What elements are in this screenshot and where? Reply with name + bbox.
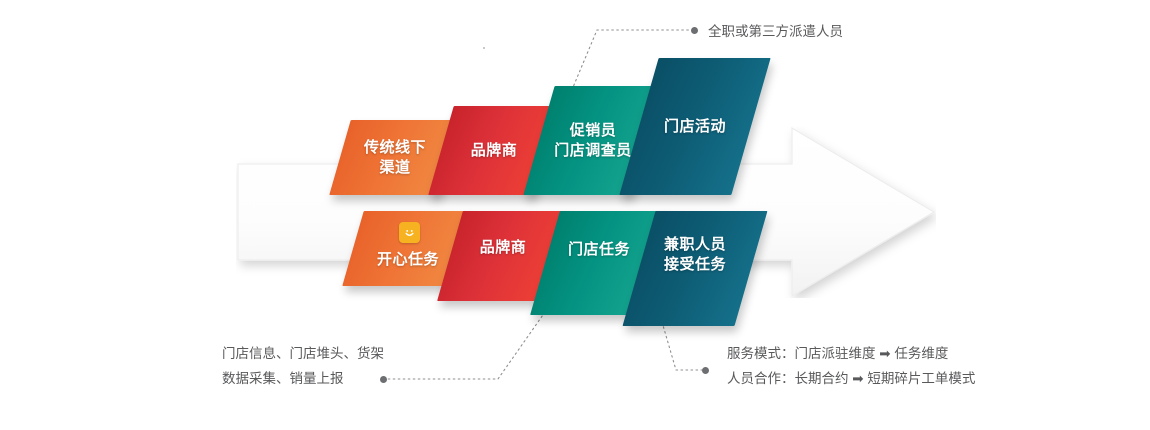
annotation-dot-staffing — [691, 27, 698, 34]
annotation-line: 全职或第三方派遣人员 — [708, 20, 843, 45]
annotation-dot-service-model — [702, 367, 709, 374]
diagram-canvas: 传统线下 渠道 品牌商 促销员 门店调查员 门店活动 — [0, 0, 1150, 430]
annotation-service-model: 服务模式：门店派驻维度 ➡ 任务维度 人员合作：长期合约 ➡ 短期碎片工单模式 — [727, 342, 975, 392]
chevron-parttime-accept-task[interactable]: 兼职人员 接受任务 — [639, 211, 751, 326]
smiley-icon — [399, 222, 420, 243]
annotation-line: 数据采集、销量上报 — [222, 367, 384, 392]
annotation-line: 服务模式：门店派驻维度 ➡ 任务维度 — [727, 342, 975, 367]
stray-pixel-artifact — [483, 47, 485, 49]
annotation-line: 门店信息、门店堆头、货架 — [222, 342, 384, 367]
annotation-data-collection: 门店信息、门店堆头、货架 数据采集、销量上报 — [222, 342, 384, 392]
chevron-store-activity[interactable]: 门店活动 — [639, 58, 751, 195]
annotation-staffing: 全职或第三方派遣人员 — [708, 20, 843, 45]
chevron-shape — [619, 58, 770, 195]
annotation-line: 人员合作：长期合约 ➡ 短期碎片工单模式 — [727, 367, 975, 392]
chevron-shape — [623, 211, 768, 326]
